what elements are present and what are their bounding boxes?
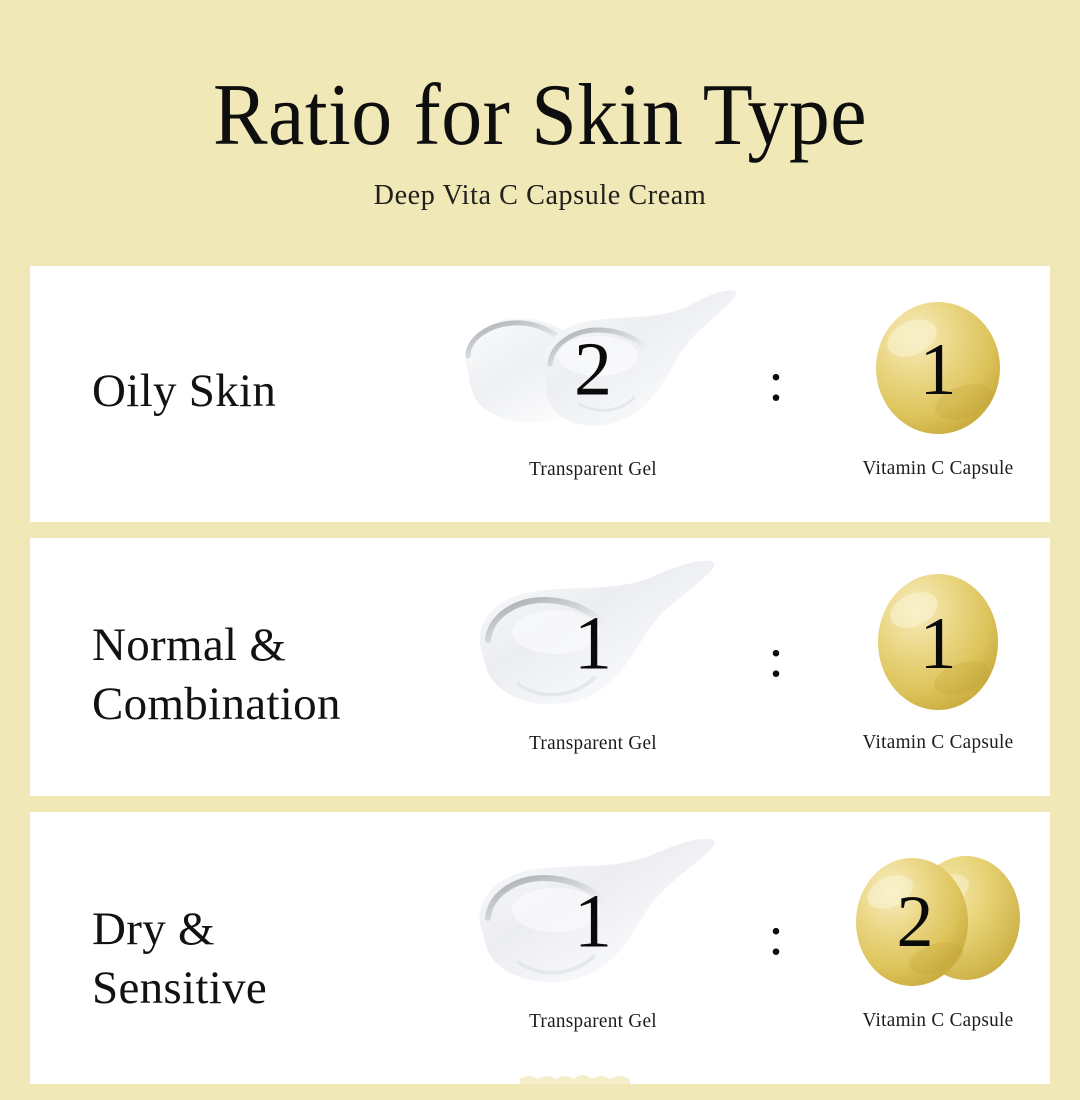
gel-column: 2 Transparent Gel — [448, 286, 738, 481]
vitamin-c-capsule-icon: 1 — [808, 290, 1068, 455]
ratio-separator: : — [754, 354, 798, 410]
gel-column: 1 Transparent Gel — [448, 838, 738, 1033]
ratio-card-dry-sensitive: Dry & Sensitive — [30, 812, 1050, 1084]
page-subtitle: Deep Vita C Capsule Cream — [16, 179, 1064, 212]
capsule-caption: Vitamin C Capsule — [813, 731, 1063, 754]
skin-type-label: Oily Skin — [92, 362, 422, 421]
ratio-card-oily-skin: Oily Skin — [30, 266, 1050, 522]
page-title: Ratio for Skin Type — [38, 76, 1042, 157]
header: Ratio for Skin Type Deep Vita C Capsule … — [0, 0, 1080, 212]
gel-column: 1 Transparent Gel — [448, 560, 738, 755]
gel-caption: Transparent Gel — [454, 1010, 732, 1033]
infographic-page: { "header": { "title": "Ratio for Skin T… — [0, 0, 1080, 1080]
transparent-gel-icon: 2 — [448, 286, 738, 456]
capsule-column: 1 Vitamin C Capsule — [808, 290, 1068, 480]
capsule-caption: Vitamin C Capsule — [813, 457, 1063, 480]
ratio-card-list: Oily Skin — [30, 266, 1050, 1100]
ratio-separator: : — [754, 908, 798, 964]
transparent-gel-icon: 1 — [448, 560, 738, 730]
transparent-gel-icon: 1 — [448, 838, 738, 1008]
bottom-scallop-decoration — [520, 1070, 630, 1084]
gel-caption: Transparent Gel — [454, 458, 732, 481]
skin-type-label: Dry & Sensitive — [92, 900, 422, 1018]
vitamin-c-capsule-icon: 2 — [808, 842, 1068, 1007]
gel-caption: Transparent Gel — [454, 732, 732, 755]
vitamin-c-capsule-icon: 1 — [808, 564, 1068, 729]
ratio-separator: : — [754, 630, 798, 686]
capsule-column: 1 Vitamin C Capsule — [808, 564, 1068, 754]
capsule-caption: Vitamin C Capsule — [813, 1009, 1063, 1032]
ratio-card-normal-combination: Normal & Combination — [30, 538, 1050, 796]
skin-type-label: Normal & Combination — [92, 616, 422, 734]
capsule-column: 2 Vitamin C Capsule — [808, 842, 1068, 1032]
